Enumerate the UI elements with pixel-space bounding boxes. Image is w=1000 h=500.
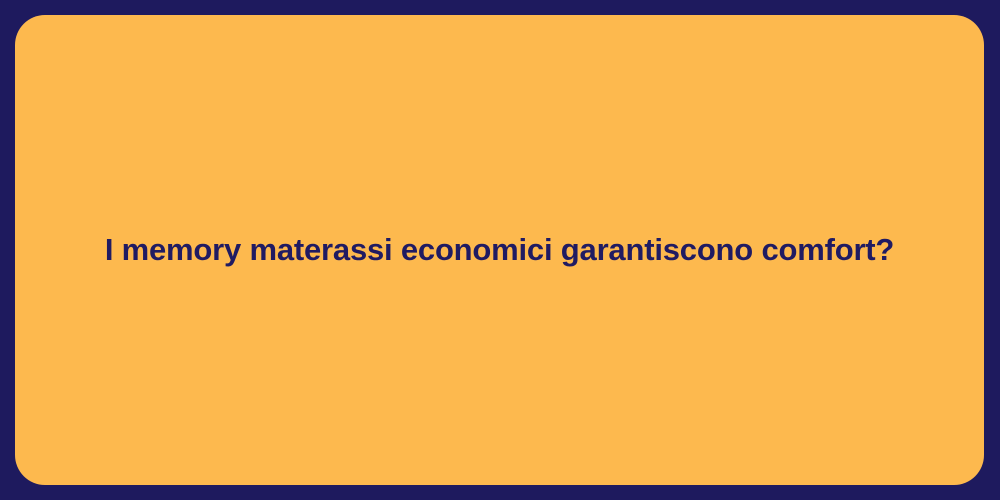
faq-card-panel: I memory materassi economici garantiscon… [15,15,984,485]
faq-question-heading: I memory materassi economici garantiscon… [105,231,894,270]
faq-card-frame: I memory materassi economici garantiscon… [0,0,1000,500]
